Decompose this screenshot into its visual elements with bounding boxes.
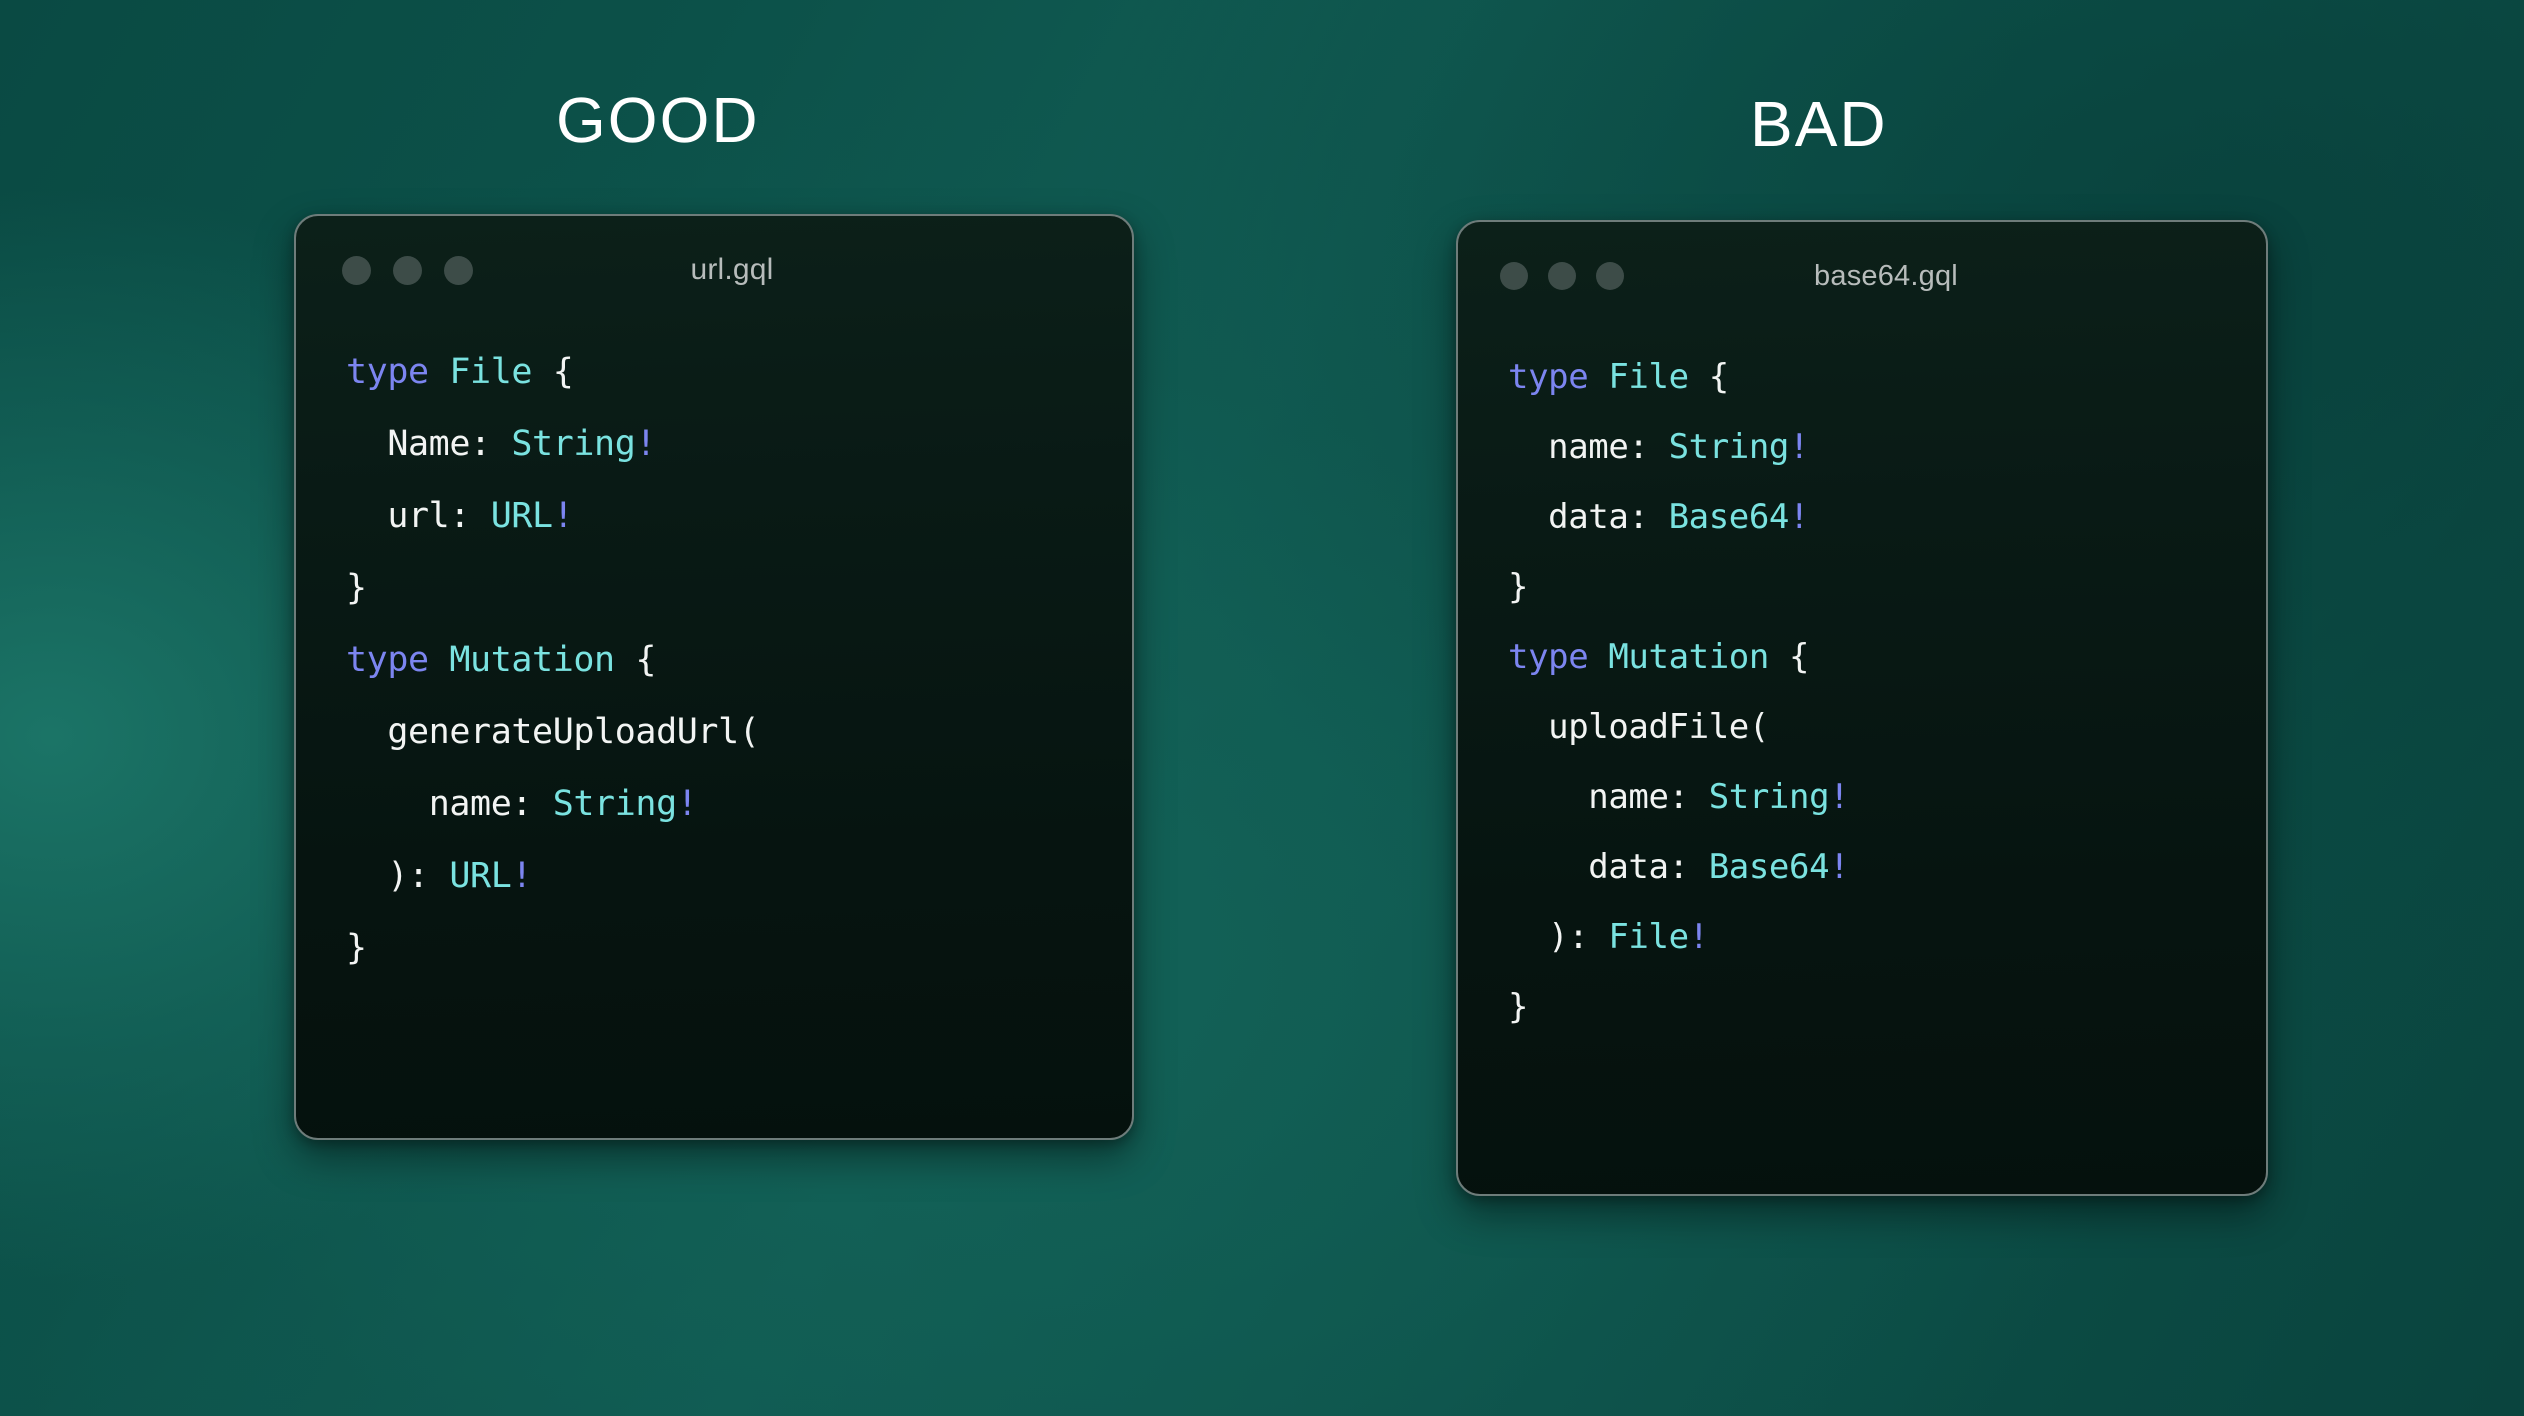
code-token [1649,497,1669,537]
window-maximize-dot[interactable] [1596,262,1624,290]
traffic-lights [342,256,473,285]
window-minimize-dot[interactable] [393,256,422,285]
code-token: name: [1548,427,1648,467]
code-token: ): [1548,917,1608,957]
code-token: ! [635,424,656,464]
code-token: { [1769,637,1809,677]
code-line: name: String! [1508,762,2266,832]
code-token: Base64 [1669,497,1789,537]
window-maximize-dot[interactable] [444,256,473,285]
code-token: { [532,352,573,392]
code-token: } [346,928,367,968]
code-line: } [1508,972,2266,1042]
code-token [429,352,450,392]
code-window-good: url.gql type File { Name: String! url: U… [294,214,1134,1140]
code-token: File [449,352,532,392]
code-token: String [511,424,635,464]
code-line: type Mutation { [346,624,1132,696]
code-token: } [1508,567,1528,607]
code-token: File [1608,917,1688,957]
code-token: uploadFile( [1548,707,1769,747]
code-token: String [1709,777,1829,817]
code-token: type [1508,357,1588,397]
code-line: uploadFile( [1508,692,2266,762]
code-line: Name: String! [346,408,1132,480]
code-token: { [1689,357,1729,397]
code-line: data: Base64! [1508,482,2266,552]
bad-heading: BAD [1750,92,1888,156]
code-token: URL [491,496,553,536]
code-line: type File { [1508,342,2266,412]
code-token: Base64 [1709,847,1829,887]
code-token: type [346,640,429,680]
code-token: } [1508,987,1528,1027]
code-token: Mutation [449,640,614,680]
code-block: type File { name: String! data: Base64!}… [1508,342,2266,1042]
window-titlebar: url.gql [296,216,1132,324]
code-token: ! [1829,777,1849,817]
code-token: data: [1548,497,1648,537]
code-line: } [346,552,1132,624]
code-token: type [1508,637,1588,677]
code-token [532,784,553,824]
code-token [491,424,512,464]
window-minimize-dot[interactable] [1548,262,1576,290]
code-token: } [346,568,367,608]
code-token: ! [511,856,532,896]
window-close-dot[interactable] [342,256,371,285]
code-line: ): File! [1508,902,2266,972]
code-token: Mutation [1608,637,1769,677]
code-window-bad: base64.gql type File { name: String! dat… [1456,220,2268,1196]
code-token: generateUploadUrl( [387,712,759,752]
code-token: ! [553,496,574,536]
code-token: { [615,640,656,680]
good-heading: GOOD [556,88,760,152]
code-token [429,640,450,680]
code-token: type [346,352,429,392]
code-token: ! [1689,917,1709,957]
code-token [470,496,491,536]
code-line: } [346,912,1132,984]
code-token: URL [449,856,511,896]
code-token: Name: [387,424,490,464]
code-token [1588,637,1608,677]
window-titlebar: base64.gql [1458,222,2266,330]
code-token: url: [387,496,470,536]
code-line: data: Base64! [1508,832,2266,902]
code-token [1689,847,1709,887]
code-block: type File { Name: String! url: URL!}type… [346,336,1132,984]
code-line: name: String! [346,768,1132,840]
code-line: generateUploadUrl( [346,696,1132,768]
code-token: data: [1588,847,1688,887]
code-line: ): URL! [346,840,1132,912]
code-line: url: URL! [346,480,1132,552]
code-token [1689,777,1709,817]
code-token: File [1608,357,1688,397]
code-line: name: String! [1508,412,2266,482]
comparison-slide: GOOD BAD url.gql type File { Name: Strin… [0,0,2524,1416]
traffic-lights [1500,262,1624,290]
code-line: type Mutation { [1508,622,2266,692]
window-close-dot[interactable] [1500,262,1528,290]
code-token: ! [1829,847,1849,887]
code-token: ! [1789,497,1809,537]
code-token [1649,427,1669,467]
code-token: name: [429,784,532,824]
code-token: ): [387,856,449,896]
code-line: type File { [346,336,1132,408]
code-line: } [1508,552,2266,622]
code-token: ! [1789,427,1809,467]
code-token: ! [677,784,698,824]
code-token: name: [1588,777,1688,817]
code-token [1588,357,1608,397]
code-token: String [1669,427,1789,467]
code-token: String [553,784,677,824]
